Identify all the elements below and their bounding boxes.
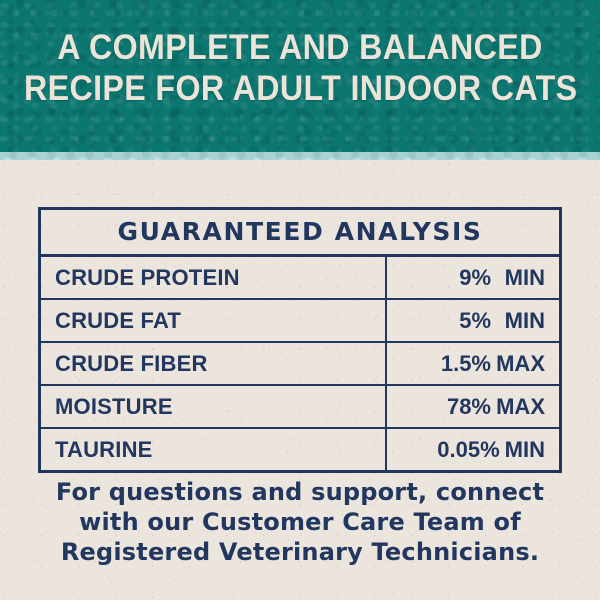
support-message: For questions and support, connect with … [0,477,600,567]
nutrient-qualifier: MAX [491,351,545,377]
nutrient-qualifier: MIN [491,265,545,291]
nutrient-name: CRUDE PROTEIN [41,257,387,298]
support-message-line-1: For questions and support, connect [0,477,600,507]
nutrient-amount-cell: 1.5% MAX [387,343,559,384]
nutrient-value: 5% [429,308,491,334]
table-title: GUARANTEED ANALYSIS [41,210,559,257]
nutrient-amount-cell: 9% MIN [387,257,559,298]
nutrient-value: 0.05% [437,437,499,463]
nutrient-value: 1.5% [429,351,491,377]
nutrient-name: CRUDE FAT [41,300,387,341]
nutrient-name: TAURINE [41,429,387,470]
nutrient-amount-cell: 0.05% MIN [387,429,559,470]
nutrient-amount-cell: 78% MAX [387,386,559,427]
nutrient-qualifier: MIN [491,308,545,334]
table-row: CRUDE FIBER 1.5% MAX [41,343,559,386]
nutrient-value: 9% [429,265,491,291]
page-title-line-2: RECIPE FOR ADULT INDOOR CATS [24,68,576,109]
header-title-block: A COMPLETE AND BALANCED RECIPE FOR ADULT… [0,0,600,109]
nutrient-name: CRUDE FIBER [41,343,387,384]
table-row: CRUDE FAT 5% MIN [41,300,559,343]
table-row: CRUDE PROTEIN 9% MIN [41,257,559,300]
nutrient-name: MOISTURE [41,386,387,427]
nutrient-value: 78% [429,394,491,420]
nutrient-qualifier: MIN [500,437,545,463]
support-message-line-2: with our Customer Care Team of [0,507,600,537]
page-title-line-1: A COMPLETE AND BALANCED [24,27,576,68]
nutrient-qualifier: MAX [491,394,545,420]
table-row: MOISTURE 78% MAX [41,386,559,429]
table-row: TAURINE 0.05% MIN [41,429,559,470]
support-message-line-3: Registered Veterinary Technicians. [0,537,600,567]
nutrient-amount-cell: 5% MIN [387,300,559,341]
guaranteed-analysis-table: GUARANTEED ANALYSIS CRUDE PROTEIN 9% MIN… [38,207,562,473]
pet-food-label-panel: A COMPLETE AND BALANCED RECIPE FOR ADULT… [0,0,600,600]
